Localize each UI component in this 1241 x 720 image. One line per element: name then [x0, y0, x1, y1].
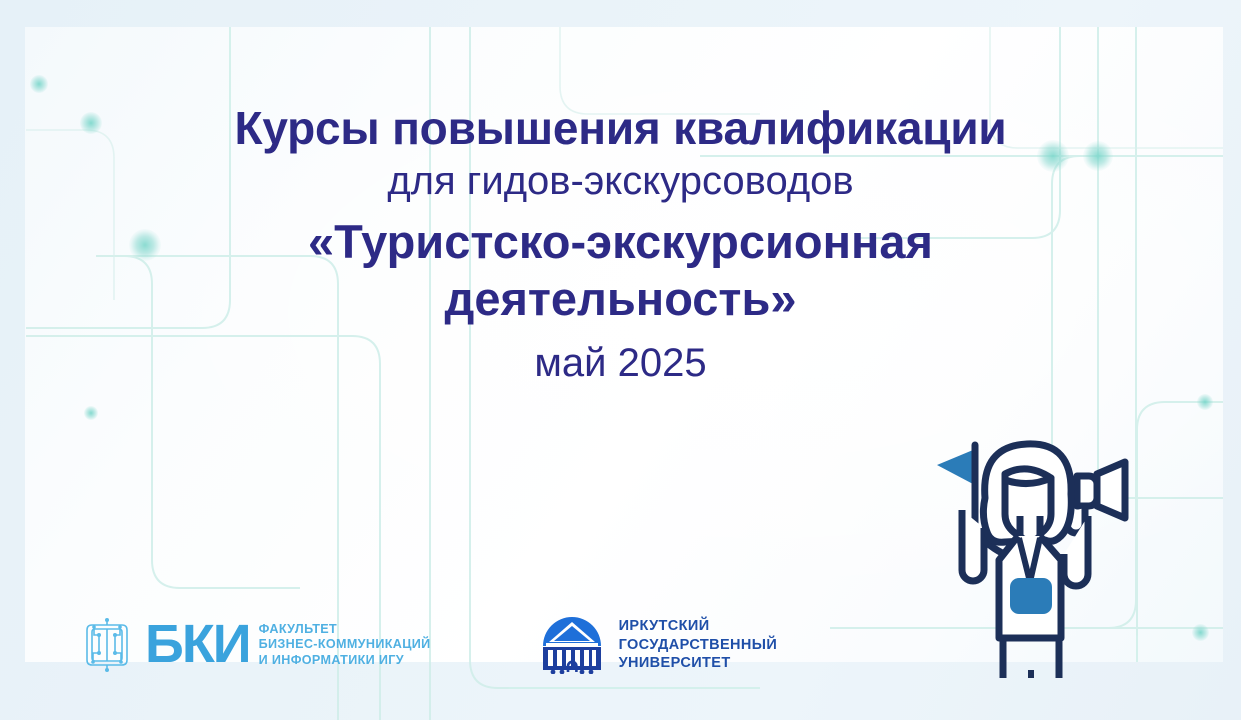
- logo-bki: БКИ ФАКУЛЬТЕТ БИЗНЕС-КОММУНИКАЦИЙ И ИНФО…: [78, 616, 431, 674]
- circuit-node: [84, 406, 98, 420]
- tour-guide-illustration: [925, 432, 1185, 682]
- course-title: «Туристско-экскурсионная деятельность»: [0, 213, 1241, 328]
- bki-line-3: И ИНФОРМАТИКИ ИГУ: [259, 653, 431, 668]
- circuit-board-emblem-icon: [78, 616, 136, 674]
- circuit-node: [30, 75, 48, 93]
- badge-icon: [1010, 578, 1052, 614]
- igu-line-2: ГОСУДАРСТВЕННЫЙ: [619, 636, 778, 655]
- logo-bar: БКИ ФАКУЛЬТЕТ БИЗНЕС-КОММУНИКАЦИЙ И ИНФО…: [78, 616, 777, 674]
- bki-mark: БКИ: [145, 620, 250, 670]
- igu-wordmark: ИРКУТСКИЙ ГОСУДАРСТВЕННЫЙ УНИВЕРСИТЕТ: [619, 617, 778, 673]
- circuit-node: [1192, 624, 1209, 641]
- igu-line-3: УНИВЕРСИТЕТ: [619, 654, 778, 673]
- title-line-2: для гидов-экскурсоводов: [0, 159, 1241, 203]
- bki-wordmark: ФАКУЛЬТЕТ БИЗНЕС-КОММУНИКАЦИЙ И ИНФОРМАТ…: [259, 622, 431, 668]
- university-building-emblem-icon: [541, 616, 603, 674]
- bki-line-1: ФАКУЛЬТЕТ: [259, 622, 431, 637]
- logo-igu: ИРКУТСКИЙ ГОСУДАРСТВЕННЫЙ УНИВЕРСИТЕТ: [541, 616, 778, 674]
- title-line-1: Курсы повышения квалификации: [0, 104, 1241, 153]
- igu-line-1: ИРКУТСКИЙ: [619, 617, 778, 636]
- slide-headline: Курсы повышения квалификации для гидов-э…: [0, 104, 1241, 385]
- presentation-slide: Курсы повышения квалификации для гидов-э…: [0, 0, 1241, 720]
- bki-line-2: БИЗНЕС-КОММУНИКАЦИЙ: [259, 637, 431, 652]
- course-date: май 2025: [0, 341, 1241, 385]
- circuit-node: [1197, 394, 1213, 410]
- flag-icon: [937, 450, 973, 484]
